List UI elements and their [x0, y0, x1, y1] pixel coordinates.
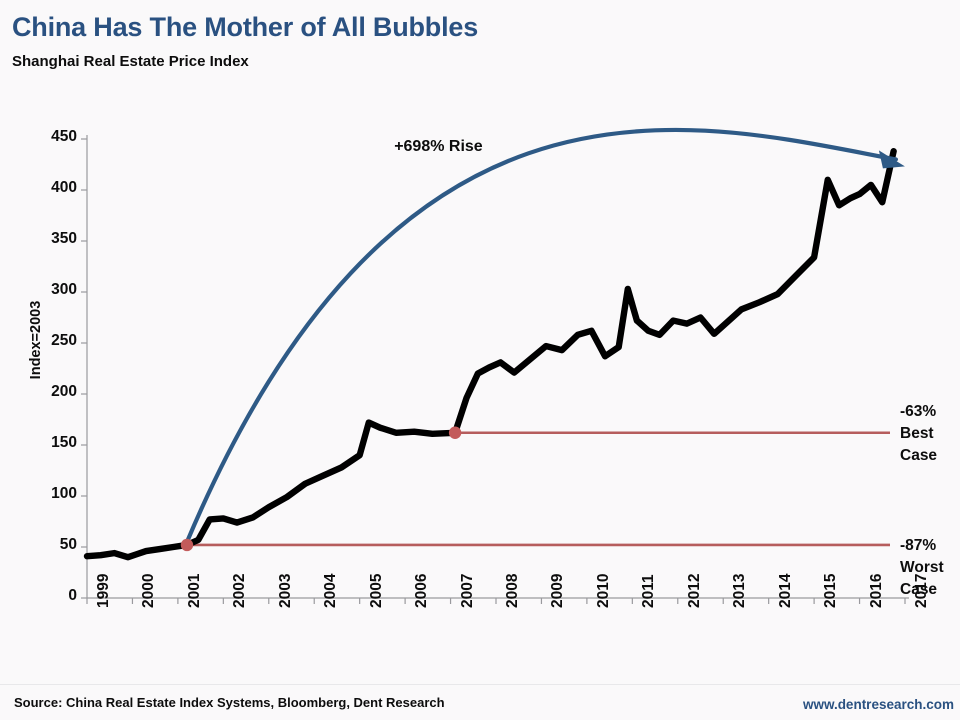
- x-tick-label: 2003: [277, 574, 295, 608]
- x-tick-label: 2014: [777, 574, 795, 608]
- rise-arc-path: [187, 130, 896, 542]
- chart-canvas: [0, 0, 960, 720]
- annotation-line: Worst: [900, 557, 944, 579]
- website-link[interactable]: www.dentresearch.com: [803, 697, 954, 712]
- x-tick-label: 2001: [186, 574, 204, 608]
- x-tick-label: 2000: [140, 574, 158, 608]
- y-tick-label: 400: [31, 179, 77, 197]
- x-tick-label: 2004: [322, 574, 340, 608]
- y-tick-label: 450: [31, 128, 77, 146]
- x-tick-label: 2005: [368, 574, 386, 608]
- y-tick-label: 300: [31, 281, 77, 299]
- footer-divider: [0, 684, 960, 685]
- x-tick-label: 2002: [231, 574, 249, 608]
- x-tick-label: 2008: [504, 574, 522, 608]
- x-tick-label: 2012: [686, 574, 704, 608]
- rise-annotation-label: +698% Rise: [394, 138, 483, 156]
- y-tick-label: 200: [31, 383, 77, 401]
- x-tick-label: 2016: [868, 574, 886, 608]
- annotation-line: -63%: [900, 401, 937, 423]
- x-tick-label: 2011: [640, 574, 658, 608]
- annotation-line: Case: [900, 445, 937, 467]
- x-tick-label: 2010: [595, 574, 613, 608]
- x-tick-label: 2009: [549, 574, 567, 608]
- worst-case-annotation: -87%WorstCase: [900, 535, 944, 601]
- scenario-marker-dot: [181, 539, 193, 551]
- y-tick-label: 100: [31, 485, 77, 503]
- scenario-lines: [187, 433, 890, 545]
- rise-arrow-arc: [187, 130, 905, 542]
- y-tick-label: 50: [31, 536, 77, 554]
- y-tick-label: 0: [31, 587, 77, 605]
- chart-page: China Has The Mother of All Bubbles Shan…: [0, 0, 960, 720]
- annotation-line: Case: [900, 579, 944, 601]
- x-tick-label: 2013: [731, 574, 749, 608]
- x-tick-label: 1999: [95, 574, 113, 608]
- annotation-line: -87%: [900, 535, 944, 557]
- source-note: Source: China Real Estate Index Systems,…: [14, 695, 445, 710]
- scenario-marker-dot: [449, 427, 461, 439]
- y-tick-label: 150: [31, 434, 77, 452]
- x-tick-label: 2015: [822, 574, 840, 608]
- x-tick-label: 2006: [413, 574, 431, 608]
- annotation-line: Best: [900, 423, 937, 445]
- y-tick-label: 250: [31, 332, 77, 350]
- scenario-markers: [181, 427, 462, 552]
- x-tick-label: 2007: [459, 574, 477, 608]
- y-tick-label: 350: [31, 230, 77, 248]
- best-case-annotation: -63%BestCase: [900, 401, 937, 467]
